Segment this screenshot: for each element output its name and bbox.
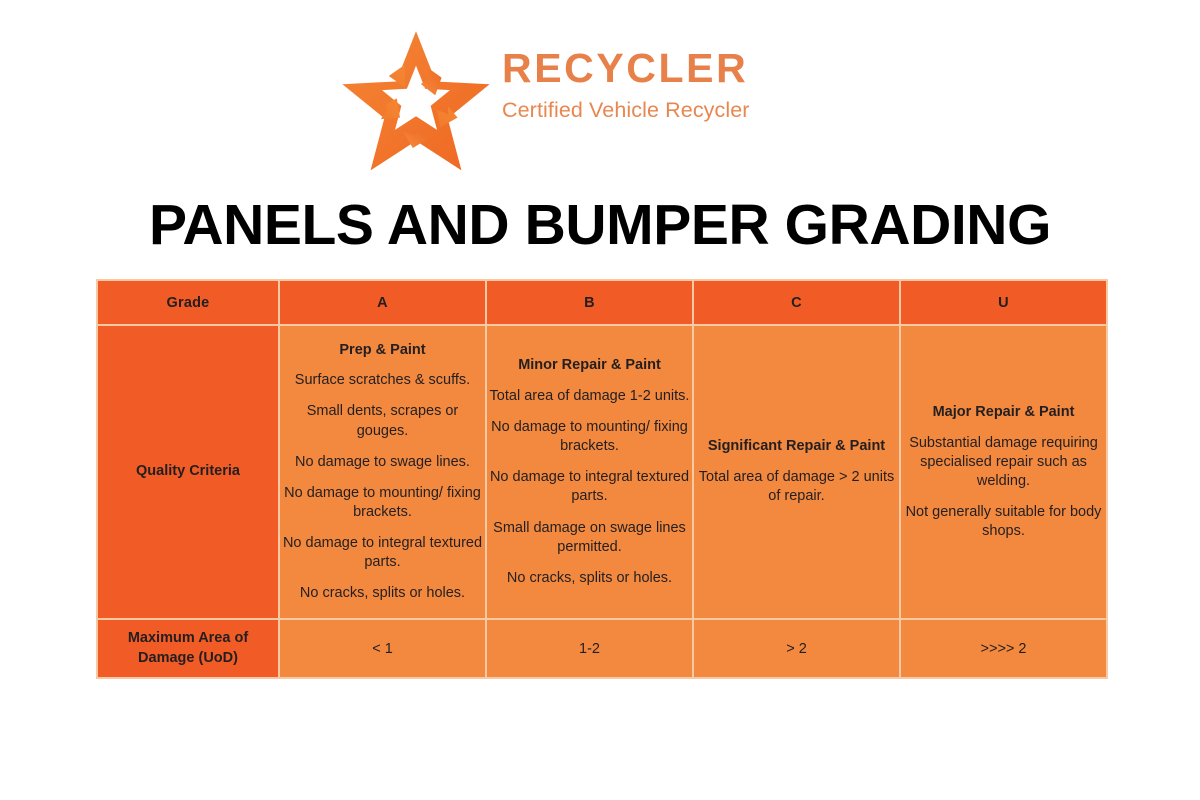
brand-subtitle: Certified Vehicle Recycler bbox=[502, 100, 764, 122]
brand-logo: RECYCLER Certified Vehicle Recycler bbox=[336, 28, 766, 180]
table-row-quality-criteria: Quality Criteria Prep & Paint Surface sc… bbox=[98, 326, 1106, 618]
criteria-line: No damage to mounting/ fixing brackets. bbox=[280, 484, 485, 522]
criteria-line: Total area of damage 1-2 units. bbox=[487, 387, 692, 406]
table-row-max-area-of-damage: Maximum Area of Damage (UoD) < 1 1-2 > 2… bbox=[98, 620, 1106, 677]
criteria-heading-a: Prep & Paint bbox=[280, 341, 485, 360]
criteria-cell-u: Major Repair & Paint Substantial damage … bbox=[901, 326, 1106, 618]
brand-title: RECYCLER bbox=[502, 48, 764, 89]
criteria-line: Small damage on swage lines permitted. bbox=[487, 519, 692, 557]
brand-wordmark: RECYCLER Certified Vehicle Recycler bbox=[502, 48, 764, 122]
criteria-cell-a: Prep & Paint Surface scratches & scuffs.… bbox=[280, 326, 485, 618]
criteria-line: No cracks, splits or holes. bbox=[280, 584, 485, 603]
uod-cell-b: 1-2 bbox=[487, 620, 692, 677]
recycling-star-icon bbox=[336, 28, 496, 180]
criteria-line: Total area of damage > 2 units of repair… bbox=[694, 468, 899, 506]
criteria-heading-u: Major Repair & Paint bbox=[901, 403, 1106, 422]
table-header-row: Grade A B C U bbox=[98, 281, 1106, 324]
criteria-cell-c: Significant Repair & Paint Total area of… bbox=[694, 326, 899, 618]
header-cell-grade-label: Grade bbox=[98, 281, 278, 324]
header-cell-grade-b: B bbox=[487, 281, 692, 324]
grading-table: Grade A B C U Quality Criteria Prep & Pa… bbox=[96, 279, 1108, 679]
uod-cell-a: < 1 bbox=[280, 620, 485, 677]
criteria-line: No damage to mounting/ fixing brackets. bbox=[487, 418, 692, 456]
uod-cell-u: >>>> 2 bbox=[901, 620, 1106, 677]
criteria-cell-b: Minor Repair & Paint Total area of damag… bbox=[487, 326, 692, 618]
criteria-line: No damage to integral textured parts. bbox=[280, 534, 485, 572]
criteria-heading-b: Minor Repair & Paint bbox=[487, 356, 692, 375]
criteria-line: No damage to swage lines. bbox=[280, 453, 485, 472]
criteria-line: Substantial damage requiring specialised… bbox=[901, 434, 1106, 491]
criteria-line: Surface scratches & scuffs. bbox=[280, 371, 485, 390]
row-label-max-area-of-damage: Maximum Area of Damage (UoD) bbox=[98, 620, 278, 677]
criteria-line: No cracks, splits or holes. bbox=[487, 569, 692, 588]
header-cell-grade-u: U bbox=[901, 281, 1106, 324]
criteria-line: Small dents, scrapes or gouges. bbox=[280, 402, 485, 440]
row-label-quality-criteria: Quality Criteria bbox=[98, 326, 278, 618]
header-cell-grade-a: A bbox=[280, 281, 485, 324]
header-cell-grade-c: C bbox=[694, 281, 899, 324]
uod-cell-c: > 2 bbox=[694, 620, 899, 677]
criteria-line: Not generally suitable for body shops. bbox=[901, 503, 1106, 541]
criteria-line: No damage to integral textured parts. bbox=[487, 468, 692, 506]
page-title: PANELS AND BUMPER GRADING bbox=[0, 194, 1200, 257]
criteria-heading-c: Significant Repair & Paint bbox=[694, 437, 899, 456]
